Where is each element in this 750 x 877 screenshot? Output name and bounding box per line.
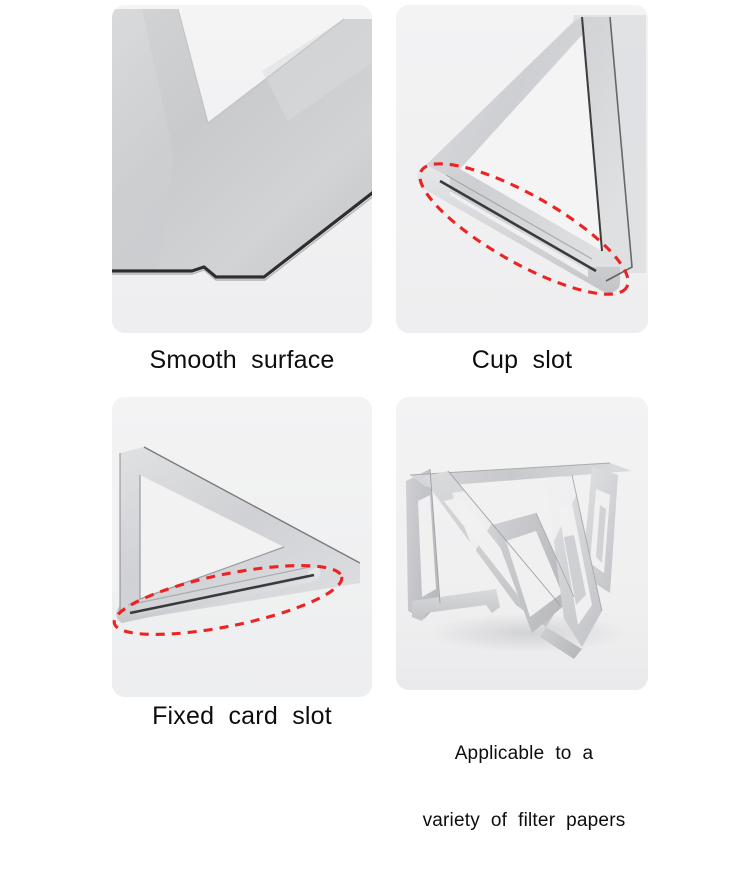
panel-background-smooth-surface xyxy=(112,5,372,333)
panel-background-cup-slot xyxy=(396,5,648,333)
caption-filter-papers: Applicable to a variety of filter papers xyxy=(396,698,652,877)
panel-background-fixed-card-slot xyxy=(112,397,372,697)
panel-filter-papers xyxy=(396,397,648,690)
caption-filter-papers-line-2: variety of filter papers xyxy=(396,810,652,832)
product-feature-sheet: Smooth surface xyxy=(0,0,750,750)
panel-background-filter-papers xyxy=(396,397,648,690)
caption-filter-papers-line-1: Applicable to a xyxy=(396,743,652,765)
panel-fixed-card-slot xyxy=(112,397,372,697)
photo-assembled-dripper-stand xyxy=(396,397,648,690)
panel-smooth-surface xyxy=(112,5,372,333)
panel-cup-slot xyxy=(396,5,648,333)
photo-smooth-surface-plate xyxy=(112,5,372,333)
caption-fixed-card-slot: Fixed card slot xyxy=(108,702,376,732)
caption-cup-slot: Cup slot xyxy=(396,346,648,376)
photo-cup-slot-frame xyxy=(396,5,648,333)
caption-smooth-surface: Smooth surface xyxy=(112,346,372,376)
photo-fixed-card-slot-frame xyxy=(112,397,372,697)
